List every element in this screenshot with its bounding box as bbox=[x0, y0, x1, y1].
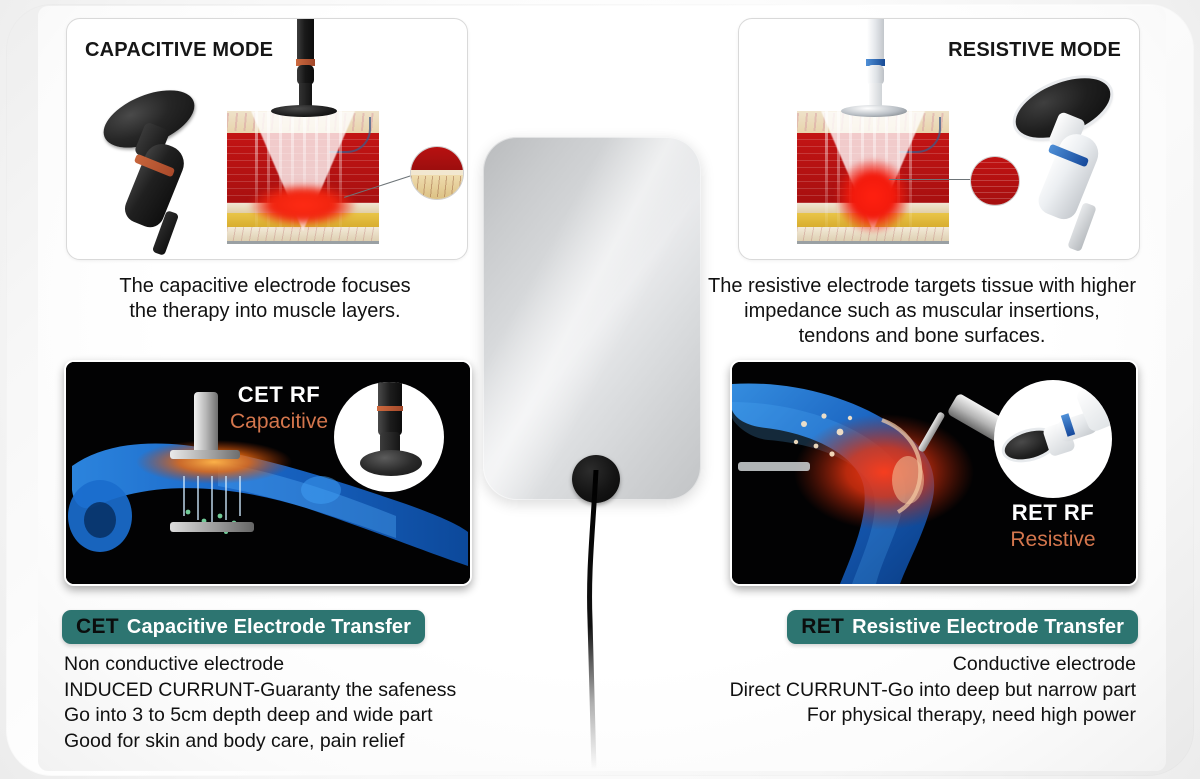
resistive-heat-zone bbox=[834, 157, 912, 235]
capacitive-caption-line-2: the therapy into muscle layers. bbox=[60, 299, 470, 324]
capacitive-handpiece-black bbox=[95, 91, 235, 251]
ret-handpiece-inset bbox=[994, 380, 1112, 498]
cet-bullet-1: Non conductive electrode bbox=[64, 652, 544, 678]
ret-bullet-1: Conductive electrode bbox=[616, 652, 1136, 678]
capacitive-skin-cross-section bbox=[227, 111, 379, 244]
capacitive-electrode-head bbox=[271, 105, 337, 117]
capacitive-magnifier bbox=[411, 147, 463, 199]
cet-rf-label: CET RF Capacitive bbox=[214, 382, 344, 434]
cet-badge: CET Capacitive Electrode Transfer bbox=[62, 610, 425, 644]
resistive-skin-cross-section bbox=[797, 111, 949, 244]
ret-badge-abbr: RET bbox=[801, 615, 844, 639]
resistive-magnifier-lead bbox=[889, 179, 981, 180]
plate-gloss bbox=[483, 137, 701, 500]
ret-bullet-list: Conductive electrode Direct CURRUNT-Go i… bbox=[616, 652, 1136, 729]
cet-handpiece-inset bbox=[334, 382, 444, 492]
cet-rf-photo: CET RF Capacitive bbox=[64, 360, 472, 586]
neutral-return-plate-electrode bbox=[483, 137, 701, 500]
ret-bullet-2: Direct CURRUNT-Go into deep but narrow p… bbox=[616, 678, 1136, 704]
cet-badge-abbr: CET bbox=[76, 615, 119, 639]
capacitive-heat-zone bbox=[249, 183, 357, 227]
ret-badge: RET Resistive Electrode Transfer bbox=[787, 610, 1138, 644]
cet-bullet-list: Non conductive electrode INDUCED CURRUNT… bbox=[64, 652, 544, 754]
cet-badge-full: Capacitive Electrode Transfer bbox=[127, 616, 411, 639]
resistive-electrode-head bbox=[841, 105, 907, 117]
handpiece-body bbox=[121, 139, 190, 232]
capacitive-mode-card: CAPACITIVE MODE bbox=[66, 18, 468, 260]
ret-bullet-3: For physical therapy, need high power bbox=[616, 703, 1136, 729]
resistive-vertical-probe bbox=[855, 18, 895, 115]
resistive-caption-line-2: impedance such as muscular insertions, bbox=[672, 299, 1172, 324]
cet-rf-label-main: CET RF bbox=[214, 382, 344, 408]
ret-badge-full: Resistive Electrode Transfer bbox=[852, 616, 1124, 639]
resistive-mode-title: RESISTIVE MODE bbox=[948, 39, 1121, 62]
capacitive-mode-title: CAPACITIVE MODE bbox=[85, 39, 273, 62]
resistive-handpiece-white bbox=[1001, 79, 1140, 254]
resistive-caption-line-3: tendons and bone surfaces. bbox=[672, 324, 1172, 349]
cet-rf-label-sub: Capacitive bbox=[214, 410, 344, 434]
ret-rf-label-main: RET RF bbox=[990, 500, 1116, 526]
ret-rf-photo: RET RF Resistive bbox=[730, 360, 1138, 586]
cet-bullet-3: Go into 3 to 5cm depth deep and wide par… bbox=[64, 703, 544, 729]
resistive-caption: The resistive electrode targets tissue w… bbox=[672, 274, 1172, 349]
capacitive-vertical-probe bbox=[285, 18, 325, 115]
cet-bullet-4: Good for skin and body care, pain relief bbox=[64, 729, 544, 755]
resistive-caption-line-1: The resistive electrode targets tissue w… bbox=[672, 274, 1172, 299]
ret-rf-label-sub: Resistive bbox=[990, 528, 1116, 552]
capacitive-caption: The capacitive electrode focuses the the… bbox=[60, 274, 470, 324]
cet-bullet-2: INDUCED CURRUNT-Guaranty the safeness bbox=[64, 678, 544, 704]
capacitive-caption-line-1: The capacitive electrode focuses bbox=[60, 274, 470, 299]
cet-return-pad bbox=[170, 522, 254, 532]
infographic-stage: CAPACITIVE MODE bbox=[0, 0, 1200, 779]
ret-rf-label: RET RF Resistive bbox=[990, 500, 1116, 552]
cet-applicator-head bbox=[170, 450, 240, 459]
resistive-mode-card: RESISTIVE MODE bbox=[738, 18, 1140, 260]
